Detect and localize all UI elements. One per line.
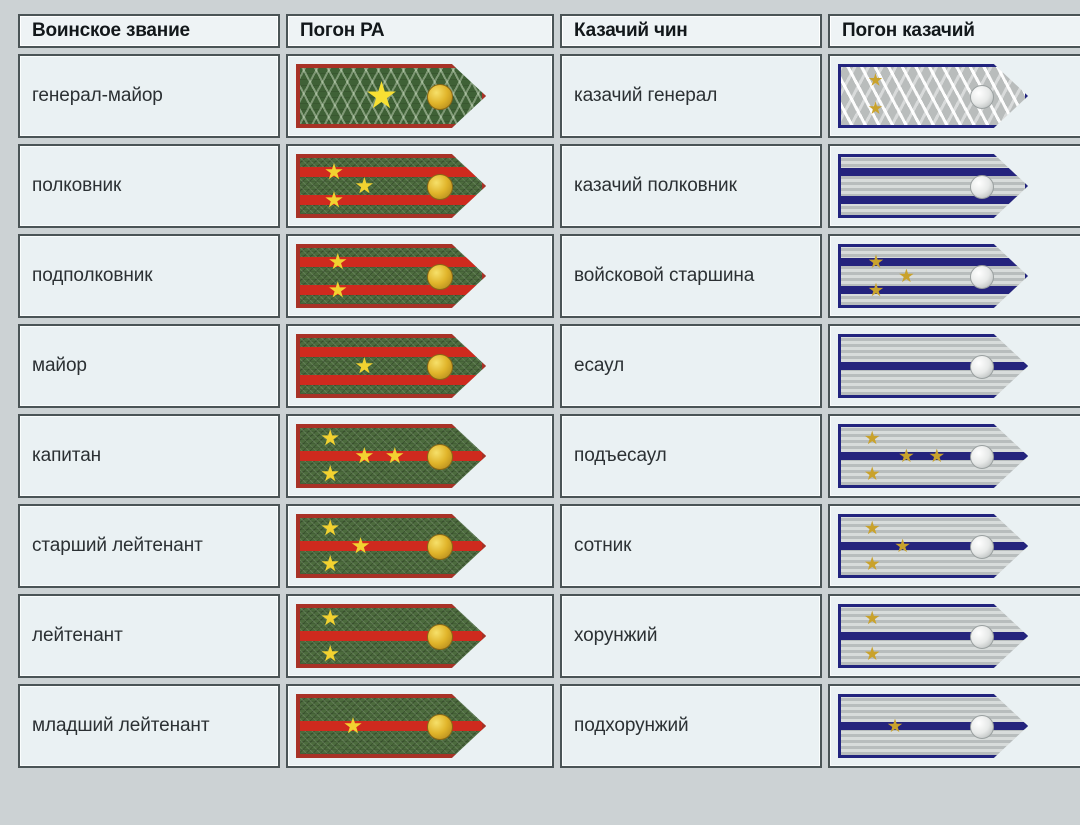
table-row: младший лейтенантподхорунжий bbox=[18, 684, 1080, 768]
epaulette-piping bbox=[838, 604, 1028, 668]
ra-epaulette bbox=[296, 334, 486, 398]
ra-epaulette bbox=[296, 64, 486, 128]
ra-epaulette-cell bbox=[286, 144, 554, 228]
cossack-rank-label: хорунжий bbox=[560, 594, 822, 678]
military-rank-label: майор bbox=[18, 324, 280, 408]
cossack-epaulette bbox=[838, 604, 1028, 668]
cossack-epaulette bbox=[838, 514, 1028, 578]
epaulette-piping bbox=[296, 334, 486, 398]
cossack-epaulette bbox=[838, 694, 1028, 758]
ra-epaulette-cell bbox=[286, 324, 554, 408]
ra-epaulette-cell bbox=[286, 414, 554, 498]
epaulette-piping bbox=[296, 154, 486, 218]
table-row: лейтенантхорунжий bbox=[18, 594, 1080, 678]
epaulette-piping bbox=[838, 424, 1028, 488]
table-header-row: Воинское звание Погон РА Казачий чин Пог… bbox=[18, 14, 1080, 48]
epaulette-piping bbox=[296, 514, 486, 578]
cossack-epaulette-cell bbox=[828, 54, 1080, 138]
epaulette-piping bbox=[838, 244, 1028, 308]
table-row: подполковниквойсковой старшина bbox=[18, 234, 1080, 318]
ra-epaulette-cell bbox=[286, 684, 554, 768]
table-body: генерал-майорказачий генералполковникказ… bbox=[18, 54, 1080, 768]
rank-comparison-table: Воинское звание Погон РА Казачий чин Пог… bbox=[12, 8, 1080, 774]
epaulette-piping bbox=[296, 604, 486, 668]
header-cossack-epaulette: Погон казачий bbox=[828, 14, 1080, 48]
header-ra-epaulette: Погон РА bbox=[286, 14, 554, 48]
cossack-rank-label: войсковой старшина bbox=[560, 234, 822, 318]
table-row: майоресаул bbox=[18, 324, 1080, 408]
military-rank-label: полковник bbox=[18, 144, 280, 228]
header-military-rank: Воинское звание bbox=[18, 14, 280, 48]
epaulette-piping bbox=[296, 244, 486, 308]
epaulette-piping bbox=[838, 514, 1028, 578]
cossack-epaulette-cell bbox=[828, 414, 1080, 498]
table-row: старший лейтенантсотник bbox=[18, 504, 1080, 588]
header-cossack-rank: Казачий чин bbox=[560, 14, 822, 48]
cossack-epaulette bbox=[838, 244, 1028, 308]
ra-epaulette-cell bbox=[286, 234, 554, 318]
ra-epaulette bbox=[296, 694, 486, 758]
epaulette-piping bbox=[296, 424, 486, 488]
cossack-epaulette-cell bbox=[828, 234, 1080, 318]
ra-epaulette-cell bbox=[286, 594, 554, 678]
cossack-rank-label: казачий полковник bbox=[560, 144, 822, 228]
cossack-epaulette bbox=[838, 64, 1028, 128]
ra-epaulette bbox=[296, 514, 486, 578]
military-rank-label: капитан bbox=[18, 414, 280, 498]
ra-epaulette bbox=[296, 424, 486, 488]
cossack-epaulette-cell bbox=[828, 324, 1080, 408]
epaulette-piping bbox=[838, 334, 1028, 398]
epaulette-piping bbox=[838, 64, 1028, 128]
cossack-rank-label: сотник bbox=[560, 504, 822, 588]
rank-comparison-page: Воинское звание Погон РА Казачий чин Пог… bbox=[0, 0, 1080, 825]
military-rank-label: генерал-майор bbox=[18, 54, 280, 138]
table-row: генерал-майорказачий генерал bbox=[18, 54, 1080, 138]
cossack-epaulette-cell bbox=[828, 684, 1080, 768]
ra-epaulette bbox=[296, 604, 486, 668]
cossack-epaulette bbox=[838, 154, 1028, 218]
ra-epaulette bbox=[296, 154, 486, 218]
cossack-epaulette bbox=[838, 424, 1028, 488]
epaulette-piping bbox=[838, 154, 1028, 218]
cossack-rank-label: подхорунжий bbox=[560, 684, 822, 768]
cossack-rank-label: есаул bbox=[560, 324, 822, 408]
epaulette-piping bbox=[838, 694, 1028, 758]
cossack-epaulette-cell bbox=[828, 144, 1080, 228]
military-rank-label: лейтенант bbox=[18, 594, 280, 678]
epaulette-piping bbox=[296, 694, 486, 758]
ra-epaulette bbox=[296, 244, 486, 308]
ra-epaulette-cell bbox=[286, 54, 554, 138]
military-rank-label: подполковник bbox=[18, 234, 280, 318]
table-row: полковникказачий полковник bbox=[18, 144, 1080, 228]
cossack-rank-label: подъесаул bbox=[560, 414, 822, 498]
table-row: капитанподъесаул bbox=[18, 414, 1080, 498]
cossack-epaulette-cell bbox=[828, 504, 1080, 588]
epaulette-piping bbox=[296, 64, 486, 128]
military-rank-label: старший лейтенант bbox=[18, 504, 280, 588]
cossack-epaulette bbox=[838, 334, 1028, 398]
ra-epaulette-cell bbox=[286, 504, 554, 588]
cossack-epaulette-cell bbox=[828, 594, 1080, 678]
cossack-rank-label: казачий генерал bbox=[560, 54, 822, 138]
military-rank-label: младший лейтенант bbox=[18, 684, 280, 768]
